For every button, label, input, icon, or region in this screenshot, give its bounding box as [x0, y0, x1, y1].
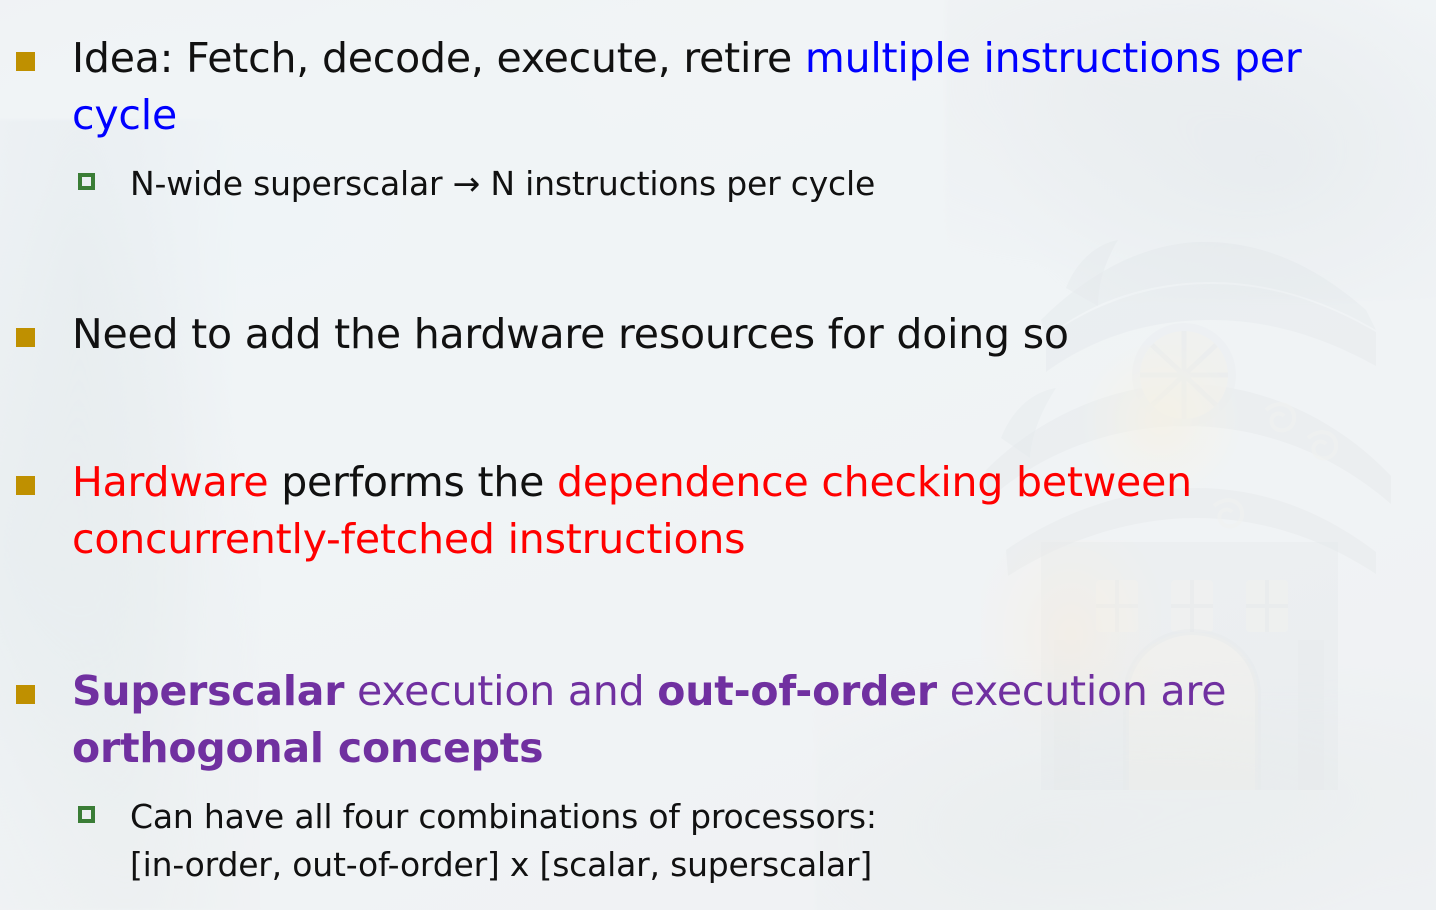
- bullet-1-segment-blue: multiple instructions: [805, 34, 1221, 82]
- bullet-4-segment-execution-and: execution and: [344, 667, 657, 715]
- slide-content: Idea: Fetch, decode, execute, retire mul…: [0, 0, 1436, 910]
- bullet-2-text: Need to add the hardware resources for d…: [72, 306, 1402, 363]
- filled-square-bullet-icon: [16, 52, 35, 71]
- filled-square-bullet-icon: [16, 685, 35, 704]
- bullet-3-segment-red-1: Hardware: [72, 458, 281, 506]
- bullet-item-1: Idea: Fetch, decode, execute, retire mul…: [16, 30, 1416, 144]
- bullet-3-segment-red-2: dependence checking between: [557, 458, 1192, 506]
- sub-bullet-1-1-segment-1: N-wide superscalar: [130, 164, 453, 203]
- bullet-4-segment-orthogonal: orthogonal concepts: [72, 724, 543, 772]
- bullet-3-segment-black: performs the: [281, 458, 557, 506]
- sub-bullet-item-4-2: [in-order, out-of-order] x [scalar, supe…: [130, 841, 1420, 889]
- hollow-square-bullet-icon: [78, 806, 95, 823]
- bullet-1-segment-black: Idea: Fetch, decode, execute, retire: [72, 34, 805, 82]
- bullet-4-text: Superscalar execution and out-of-order e…: [72, 663, 1412, 777]
- bullet-4-segment-superscalar: Superscalar: [72, 667, 344, 715]
- slide-canvas: Idea: Fetch, decode, execute, retire mul…: [0, 0, 1436, 910]
- bullet-3-text: Hardware performs the dependence checkin…: [72, 454, 1362, 568]
- hollow-square-bullet-icon: [78, 173, 95, 190]
- sub-bullet-4-2-text: [in-order, out-of-order] x [scalar, supe…: [130, 841, 1370, 889]
- sub-bullet-4-1-text: Can have all four combinations of proces…: [130, 793, 1370, 841]
- bullet-item-3: Hardware performs the dependence checkin…: [16, 454, 1416, 568]
- sub-bullet-1-1-segment-2: N instructions per cycle: [480, 164, 875, 203]
- bullet-4-segment-execution-are: execution are: [937, 667, 1226, 715]
- right-arrow-icon: →: [453, 164, 480, 203]
- bullet-3-segment-red-3: concurrently-fetched instructions: [72, 515, 745, 563]
- bullet-item-2: Need to add the hardware resources for d…: [16, 306, 1416, 363]
- filled-square-bullet-icon: [16, 476, 35, 495]
- bullet-item-4: Superscalar execution and out-of-order e…: [16, 663, 1416, 777]
- filled-square-bullet-icon: [16, 328, 35, 347]
- sub-bullet-item-4-1: Can have all four combinations of proces…: [78, 793, 1418, 841]
- bullet-1-text: Idea: Fetch, decode, execute, retire mul…: [72, 30, 1402, 144]
- bullet-4-segment-out-of-order: out-of-order: [657, 667, 937, 715]
- sub-bullet-1-1-text: N-wide superscalar → N instructions per …: [130, 160, 1370, 208]
- sub-bullet-item-1-1: N-wide superscalar → N instructions per …: [78, 160, 1418, 208]
